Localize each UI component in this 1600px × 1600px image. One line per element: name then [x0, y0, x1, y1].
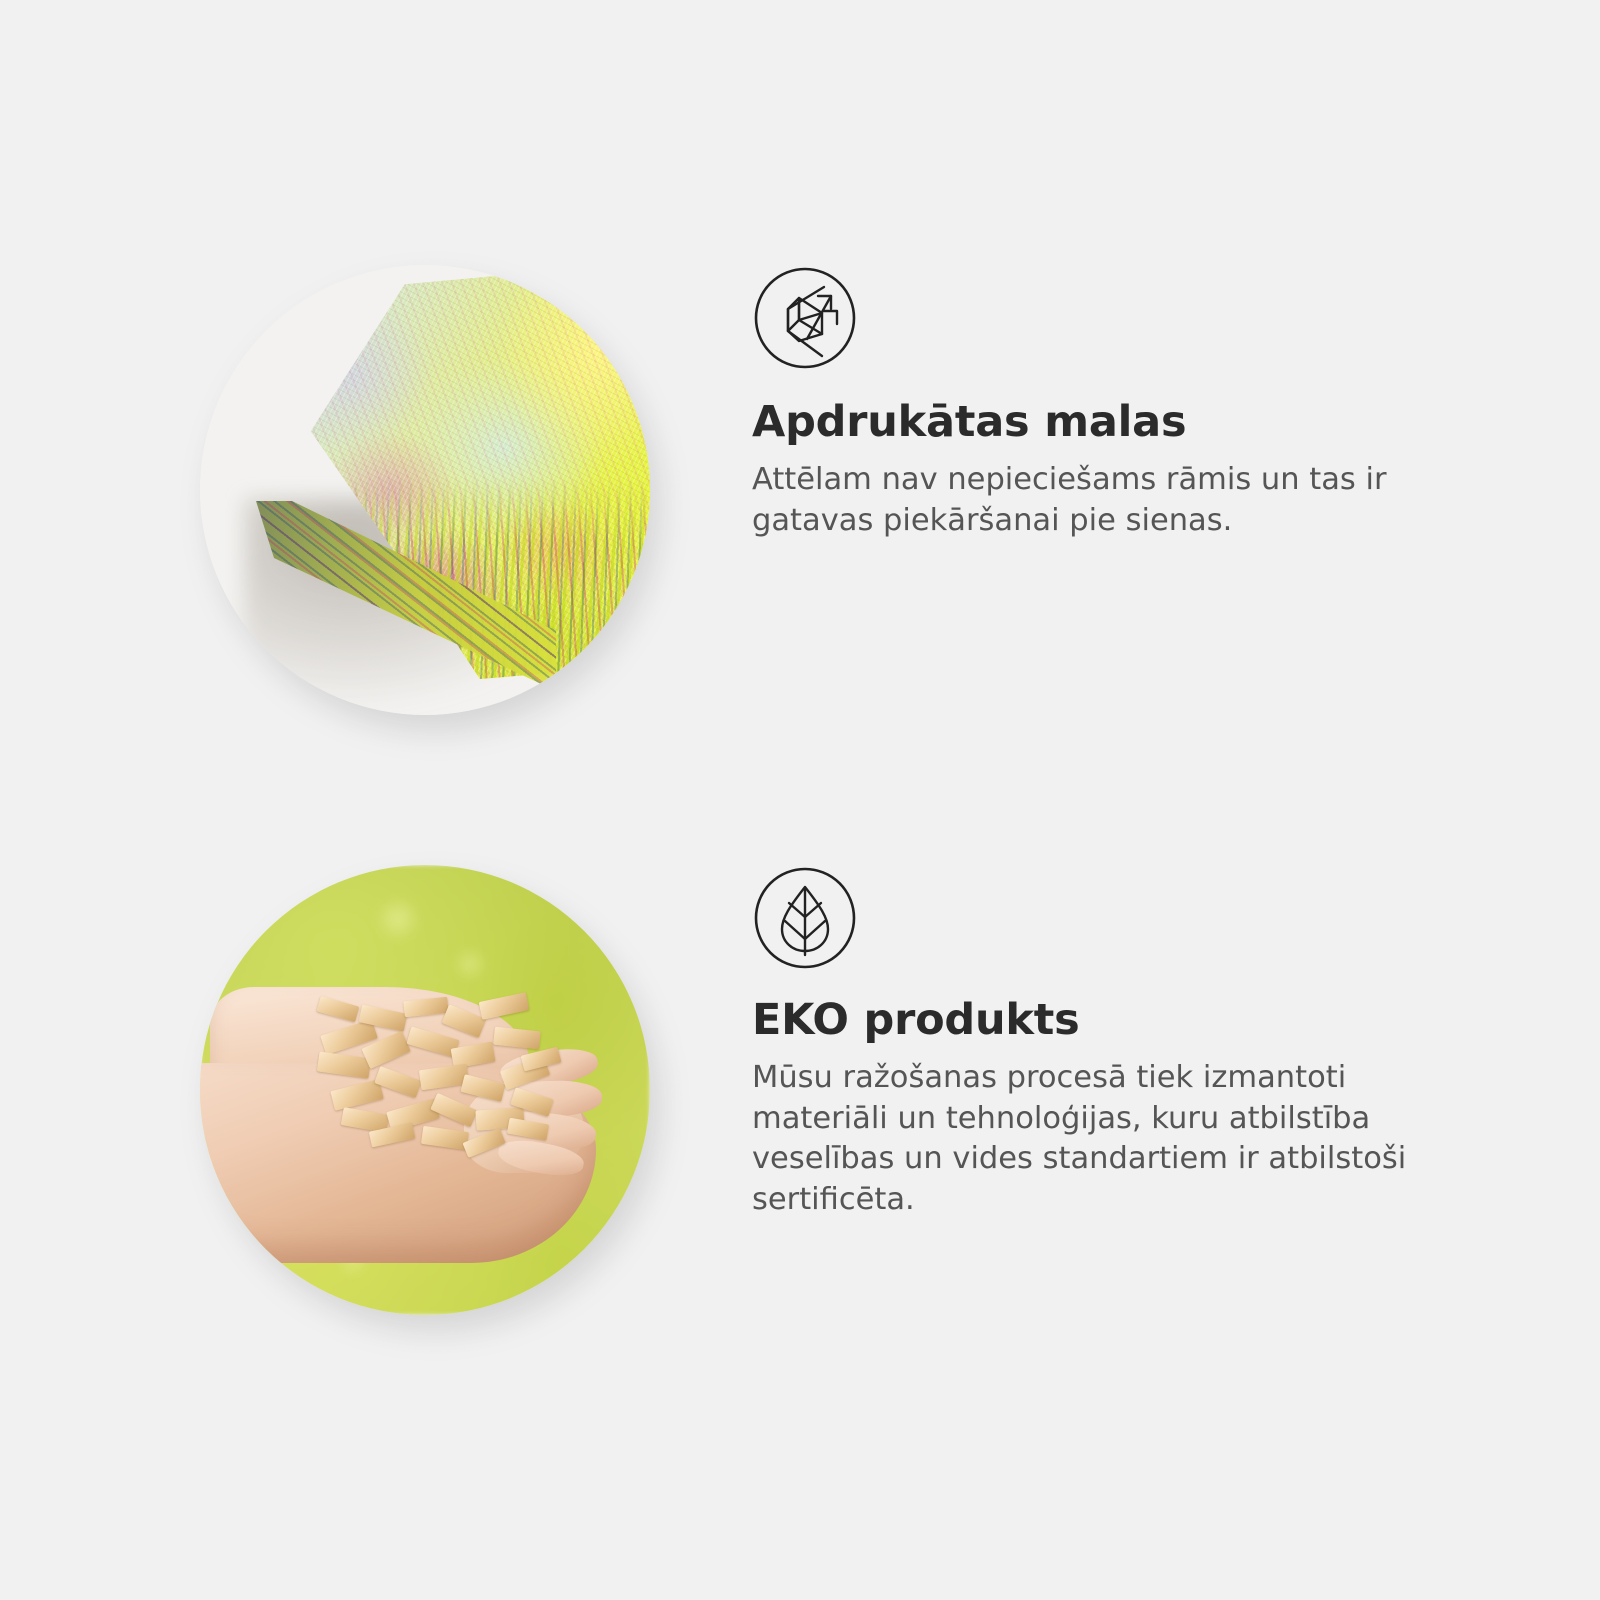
canvas-photo-scene	[200, 265, 650, 715]
leaf-icon	[752, 865, 858, 971]
feature-description: Attēlam nav nepieciešams rāmis un tas ir…	[752, 460, 1472, 541]
canvas-print-corner-photo	[200, 265, 650, 715]
hands-holding-wood-chips-photo	[200, 865, 650, 1315]
feature-content-eko-product: EKO produkts Mūsu ražošanas procesā tiek…	[752, 865, 1492, 1221]
feature-title: Apdrukātas malas	[752, 399, 1492, 446]
feature-list-page: Apdrukātas malas Attēlam nav nepieciešam…	[0, 0, 1600, 1600]
feature-content-printed-edges: Apdrukātas malas Attēlam nav nepieciešam…	[752, 265, 1492, 541]
feature-title: EKO produkts	[752, 997, 1492, 1044]
canvas-wrap-arrows-icon	[752, 265, 858, 371]
feature-item-printed-edges: Apdrukātas malas Attēlam nav nepieciešam…	[0, 265, 1600, 715]
wood-chips-pile	[312, 993, 580, 1151]
feature-description: Mūsu ražošanas procesā tiek izmantoti ma…	[752, 1058, 1472, 1220]
feature-item-eko-product: EKO produkts Mūsu ražošanas procesā tiek…	[0, 865, 1600, 1315]
eco-photo-scene	[200, 865, 650, 1315]
